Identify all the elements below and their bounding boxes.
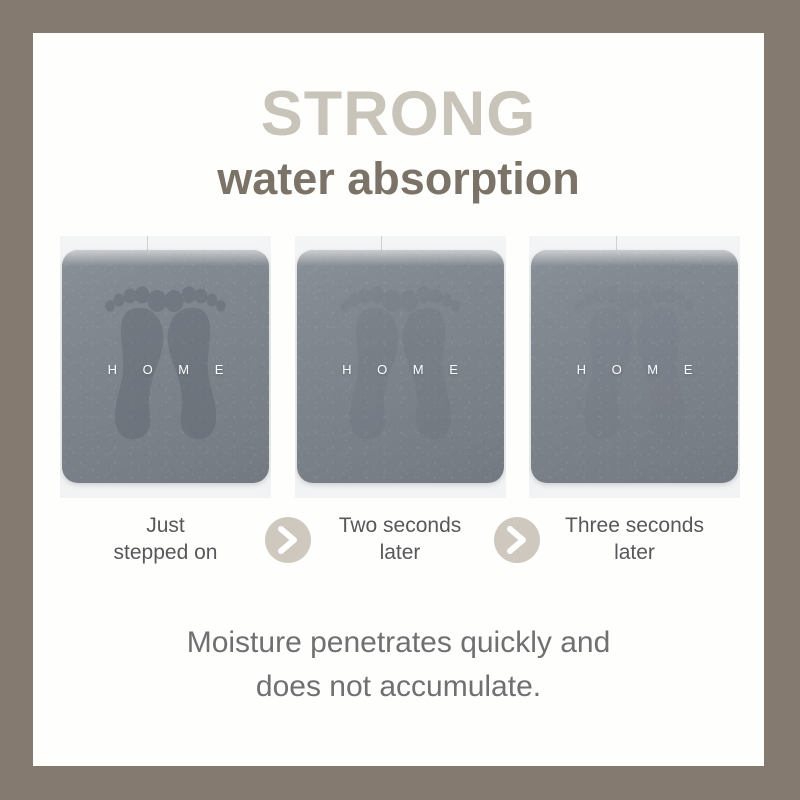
caption-line-1: Two seconds (295, 512, 506, 539)
claim-line-1: Moisture penetrates quickly and (33, 621, 764, 665)
poster-root: STRONG water absorption (0, 0, 800, 800)
caption-just-stepped-on: Just stepped on (60, 505, 271, 567)
white-card: STRONG water absorption (33, 33, 764, 766)
panel-three-seconds-later: H O M E (529, 236, 740, 498)
caption-line-2: later (529, 539, 740, 566)
panel-just-stepped-on: H O M E (60, 236, 271, 498)
caption-line-1: Just (60, 512, 271, 539)
mat-wordmark: H O M E (297, 362, 504, 377)
page-subtitle: water absorption (33, 155, 764, 202)
mat-sheen (297, 250, 504, 266)
bath-mat: H O M E (62, 250, 269, 483)
panel-two-seconds-later: H O M E (295, 236, 506, 498)
caption-row: Just stepped on Two seconds later Three … (60, 505, 740, 577)
claim-text: Moisture penetrates quickly and does not… (33, 621, 764, 708)
mat-wordmark: H O M E (531, 362, 738, 377)
page-title: STRONG (33, 83, 764, 146)
caption-line-2: later (295, 539, 506, 566)
caption-two-seconds-later: Two seconds later (295, 505, 506, 567)
bath-mat: H O M E (297, 250, 504, 483)
mat-wordmark: H O M E (62, 362, 269, 377)
claim-line-2: does not accumulate. (33, 665, 764, 709)
caption-three-seconds-later: Three seconds later (529, 505, 740, 567)
mat-sheen (62, 250, 269, 266)
caption-line-1: Three seconds (529, 512, 740, 539)
bath-mat: H O M E (531, 250, 738, 483)
headline-block: STRONG water absorption (33, 83, 764, 202)
mat-sheen (531, 250, 738, 266)
chevron-right-icon (494, 517, 540, 563)
panel-row: H O M E (60, 236, 740, 498)
chevron-right-icon (265, 517, 311, 563)
caption-line-2: stepped on (60, 539, 271, 566)
